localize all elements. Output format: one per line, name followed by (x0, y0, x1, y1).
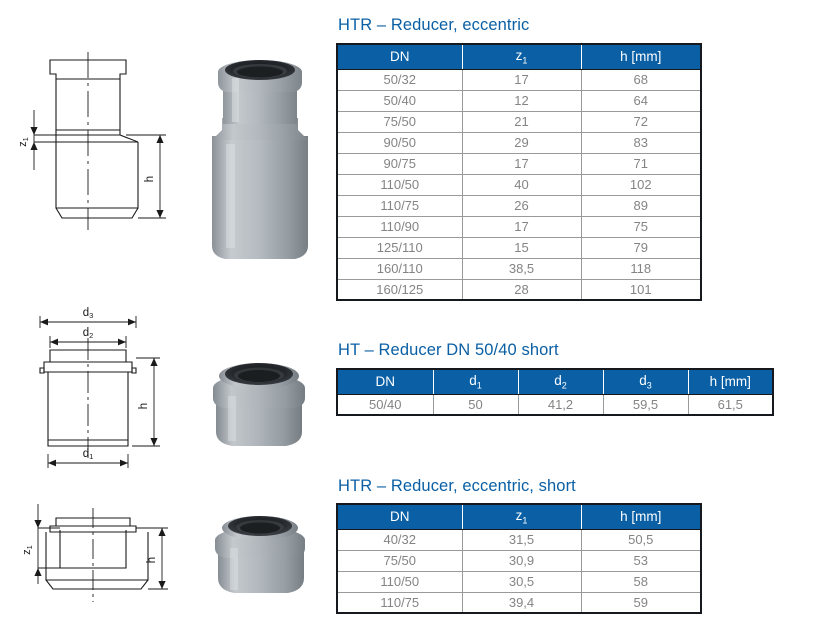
cell-value: 101 (581, 279, 701, 300)
cell-value: 30,5 (462, 571, 581, 592)
drawing3-label-h: h (146, 557, 158, 563)
cell-value: 26 (462, 195, 581, 216)
drawing1-label-h: h (144, 176, 156, 182)
cell-value: 41,2 (518, 394, 603, 415)
table-row: 90/751771 (337, 153, 701, 174)
table-body-2: 50/405041,259,561,5 (337, 394, 773, 415)
column-header-dn: DN (337, 504, 462, 529)
table-row: 75/5030,953 (337, 550, 701, 571)
product-photo-reducer-short (200, 348, 318, 452)
cell-value: 17 (462, 69, 581, 90)
table-row: 110/5030,558 (337, 571, 701, 592)
table-row: 160/11038,5118 (337, 258, 701, 279)
table-body-3: 40/3231,550,575/5030,953110/5030,558110/… (337, 529, 701, 613)
cell-dn: 110/50 (337, 571, 462, 592)
cell-dn: 75/50 (337, 550, 462, 571)
table-header-row: DN z1 h [mm] (337, 44, 701, 69)
column-header-dn: DN (337, 44, 462, 69)
cell-value: 21 (462, 111, 581, 132)
table-row: 50/405041,259,561,5 (337, 394, 773, 415)
cell-value: 61,5 (688, 394, 773, 415)
column-header-z1: z1 (462, 504, 581, 529)
cell-dn: 110/75 (337, 195, 462, 216)
cell-dn: 50/40 (337, 394, 433, 415)
cell-dn: 160/110 (337, 258, 462, 279)
cell-value: 72 (581, 111, 701, 132)
table-row: 40/3231,550,5 (337, 529, 701, 550)
cell-value: 31,5 (462, 529, 581, 550)
cell-value: 50,5 (581, 529, 701, 550)
cell-value: 29 (462, 132, 581, 153)
datasheet-page: z1 h (0, 0, 826, 622)
product-photo-reducer-eccentric (196, 32, 324, 280)
cell-dn: 110/50 (337, 174, 462, 195)
section-title-3: HTR – Reducer, eccentric, short (338, 477, 576, 496)
cell-dn: 50/32 (337, 69, 462, 90)
table-row: 50/321768 (337, 69, 701, 90)
drawing2-label-d2: d2 (83, 327, 94, 340)
column-header-d1: d1 (433, 369, 518, 394)
cell-value: 64 (581, 90, 701, 111)
cell-value: 30,9 (462, 550, 581, 571)
table-row: 110/752689 (337, 195, 701, 216)
table-row: 110/901775 (337, 216, 701, 237)
cell-value: 83 (581, 132, 701, 153)
technical-drawing-reducer-eccentric: z1 h (8, 22, 193, 272)
table-row: 90/502983 (337, 132, 701, 153)
drawing2-label-h: h (138, 403, 150, 409)
cell-value: 50 (433, 394, 518, 415)
cell-value: 58 (581, 571, 701, 592)
drawing1-label-z1: z1 (17, 137, 30, 147)
cell-value: 71 (581, 153, 701, 174)
cell-value: 28 (462, 279, 581, 300)
table-row: 110/7539,459 (337, 592, 701, 613)
cell-dn: 125/110 (337, 237, 462, 258)
cell-value: 79 (581, 237, 701, 258)
cell-value: 89 (581, 195, 701, 216)
cell-dn: 90/50 (337, 132, 462, 153)
cell-value: 68 (581, 69, 701, 90)
column-header-d3: d3 (603, 369, 688, 394)
cell-value: 15 (462, 237, 581, 258)
column-header-dn: DN (337, 369, 433, 394)
cell-value: 39,4 (462, 592, 581, 613)
table-row: 160/12528101 (337, 279, 701, 300)
table-row: 110/5040102 (337, 174, 701, 195)
cell-value: 40 (462, 174, 581, 195)
cell-dn: 110/75 (337, 592, 462, 613)
cell-value: 102 (581, 174, 701, 195)
column-header-z1: z1 (462, 44, 581, 69)
cell-dn: 160/125 (337, 279, 462, 300)
cell-dn: 40/32 (337, 529, 462, 550)
cell-dn: 110/90 (337, 216, 462, 237)
cell-dn: 90/75 (337, 153, 462, 174)
cell-value: 59 (581, 592, 701, 613)
spec-table-reducer-dn-50-40-short: DN d1 d2 d3 h [mm] 50/405041,259,561,5 (336, 368, 774, 416)
spec-table-reducer-eccentric: DN z1 h [mm] 50/32176850/40126475/502172… (336, 43, 702, 301)
cell-value: 17 (462, 153, 581, 174)
cell-value: 53 (581, 550, 701, 571)
column-header-h: h [mm] (581, 504, 701, 529)
cell-dn: 50/40 (337, 90, 462, 111)
cell-value: 12 (462, 90, 581, 111)
product-photo-reducer-eccentric-short (200, 498, 318, 602)
table-row: 75/502172 (337, 111, 701, 132)
technical-drawing-reducer-short: d3 d2 d1 (8, 302, 193, 482)
column-header-h: h [mm] (688, 369, 773, 394)
table-row: 125/1101579 (337, 237, 701, 258)
cell-value: 38,5 (462, 258, 581, 279)
section-title-1: HTR – Reducer, eccentric (338, 16, 529, 35)
technical-drawing-reducer-eccentric-short: z1 h (8, 492, 193, 617)
column-header-h: h [mm] (581, 44, 701, 69)
spec-table-reducer-eccentric-short: DN z1 h [mm] 40/3231,550,575/5030,953110… (336, 503, 702, 614)
table-header-row: DN d1 d2 d3 h [mm] (337, 369, 773, 394)
table-header-row: DN z1 h [mm] (337, 504, 701, 529)
drawing2-label-d1: d1 (83, 448, 94, 461)
cell-value: 75 (581, 216, 701, 237)
table-body-1: 50/32176850/40126475/50217290/50298390/7… (337, 69, 701, 300)
section-title-2: HT – Reducer DN 50/40 short (338, 341, 559, 360)
drawing2-label-d3: d3 (83, 307, 94, 320)
drawing3-label-z1: z1 (21, 545, 34, 555)
cell-value: 59,5 (603, 394, 688, 415)
cell-dn: 75/50 (337, 111, 462, 132)
cell-value: 17 (462, 216, 581, 237)
table-row: 50/401264 (337, 90, 701, 111)
cell-value: 118 (581, 258, 701, 279)
column-header-d2: d2 (518, 369, 603, 394)
